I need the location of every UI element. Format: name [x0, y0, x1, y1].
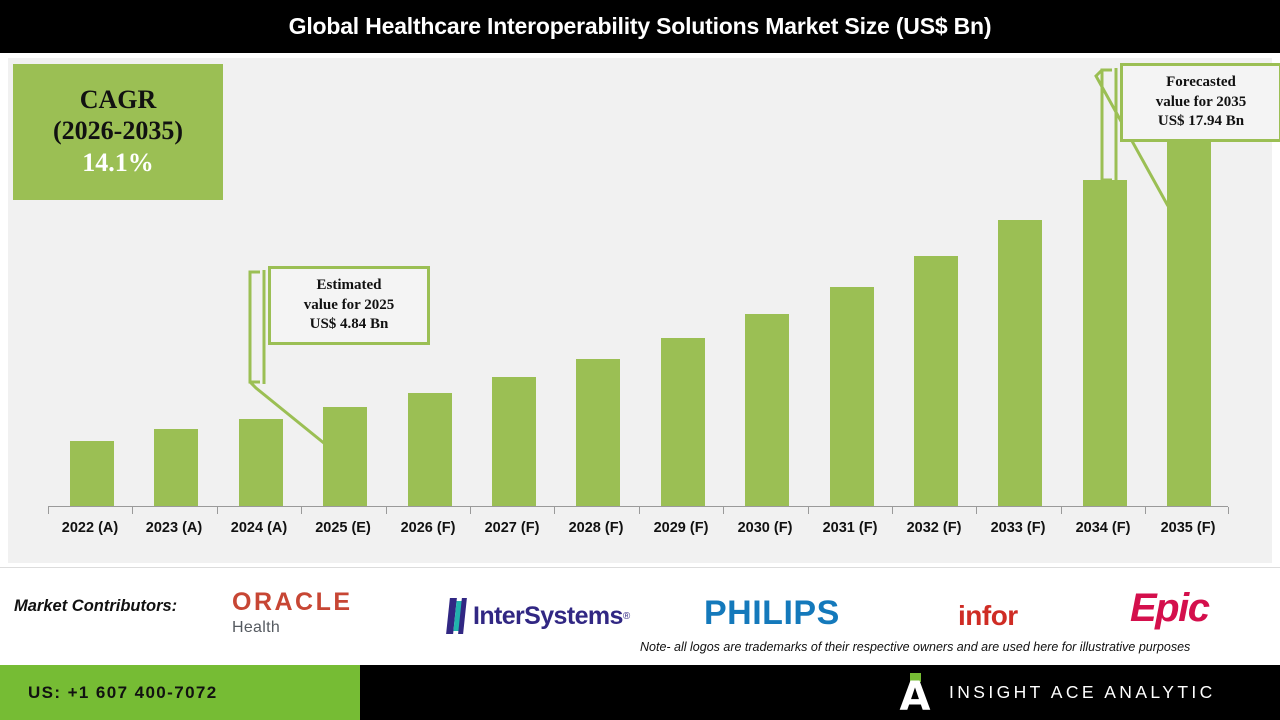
epic-logo: Epic: [1130, 588, 1208, 628]
axis-tick: [808, 507, 809, 514]
bar-2028: [576, 359, 620, 507]
bar-2026: [408, 393, 452, 507]
footer-bar: US: +1 607 400-7072 A INSIGHT ACE ANALYT…: [0, 665, 1280, 720]
oracle-wordmark: ORACLE: [232, 590, 353, 615]
bar-2034: [1083, 180, 1127, 507]
axis-tick: [976, 507, 977, 514]
philips-wordmark: PHILIPS: [704, 594, 840, 633]
callout-estimated-2025: Estimated value for 2025 US$ 4.84 Bn: [268, 266, 430, 345]
bar-2027: [492, 377, 536, 507]
axis-tick: [132, 507, 133, 514]
callout-forecasted-line1: Forecasted: [1133, 73, 1269, 93]
bar-2032: [914, 256, 958, 507]
intersystems-mark-icon: [448, 598, 465, 634]
axis-tick: [301, 507, 302, 514]
infographic-page: Global Healthcare Interoperability Solut…: [0, 0, 1280, 720]
intersystems-wordmark: InterSystems: [473, 602, 623, 631]
bar-2023: [154, 429, 198, 507]
axis-tick: [217, 507, 218, 514]
callout-estimated-line1: Estimated: [281, 276, 417, 296]
brand-wordmark: INSIGHT ACE ANALYTIC: [949, 682, 1216, 703]
bar-2033: [998, 220, 1042, 507]
market-contributors-label: Market Contributors:: [14, 597, 177, 616]
axis-tick: [723, 507, 724, 514]
infor-logo: infor: [958, 600, 1018, 632]
callout-forecasted-2035: Forecasted value for 2035 US$ 17.94 Bn: [1120, 63, 1280, 142]
footer-phone[interactable]: US: +1 607 400-7072: [28, 683, 218, 703]
bar-2035: [1167, 137, 1211, 507]
infor-wordmark: infor: [958, 600, 1018, 632]
trademark-note: Note- all logos are trademarks of their …: [640, 640, 1272, 654]
axis-tick: [1228, 507, 1229, 514]
epic-wordmark: Epic: [1130, 588, 1208, 628]
bar-2030: [745, 314, 789, 507]
registered-trademark-icon: ®: [623, 611, 630, 622]
bar-2025: [323, 407, 367, 507]
bar-2029: [661, 338, 705, 507]
callout-forecasted-line3: US$ 17.94 Bn: [1133, 112, 1269, 132]
philips-logo: PHILIPS: [704, 594, 840, 633]
x-axis-line: [48, 506, 1228, 507]
axis-tick: [470, 507, 471, 514]
footer-contact-block: US: +1 607 400-7072: [0, 665, 360, 720]
intersystems-logo: InterSystems ®: [448, 598, 630, 634]
axis-tick: [639, 507, 640, 514]
axis-tick: [1145, 507, 1146, 514]
x-axis-labels: 2022 (A) 2023 (A) 2024 (A) 2025 (E) 2026…: [8, 520, 1272, 546]
axis-tick: [892, 507, 893, 514]
callout-forecasted-line2: value for 2035: [1133, 93, 1269, 113]
axis-tick: [554, 507, 555, 514]
oracle-health-subtext: Health: [232, 620, 280, 636]
insight-ace-analytic-brand: A INSIGHT ACE ANALYTIC: [898, 665, 1216, 720]
page-title: Global Healthcare Interoperability Solut…: [289, 13, 992, 40]
chart-title-bar: Global Healthcare Interoperability Solut…: [0, 0, 1280, 53]
callout-estimated-line2: value for 2025: [281, 296, 417, 316]
x-label-2035: 2035 (F): [1138, 520, 1238, 536]
axis-tick: [48, 507, 49, 514]
bar-2022: [70, 441, 114, 507]
bar-series: [8, 58, 1272, 563]
axis-tick: [386, 507, 387, 514]
oracle-health-logo: ORACLE Health: [232, 590, 353, 636]
chart-panel: CAGR (2026-2035) 14.1%: [8, 58, 1272, 563]
insight-ace-logo-icon: A: [898, 673, 932, 713]
callout-estimated-line3: US$ 4.84 Bn: [281, 315, 417, 335]
bar-2031: [830, 287, 874, 507]
axis-tick: [1061, 507, 1062, 514]
bar-2024: [239, 419, 283, 507]
brand-letter: A: [898, 681, 932, 713]
